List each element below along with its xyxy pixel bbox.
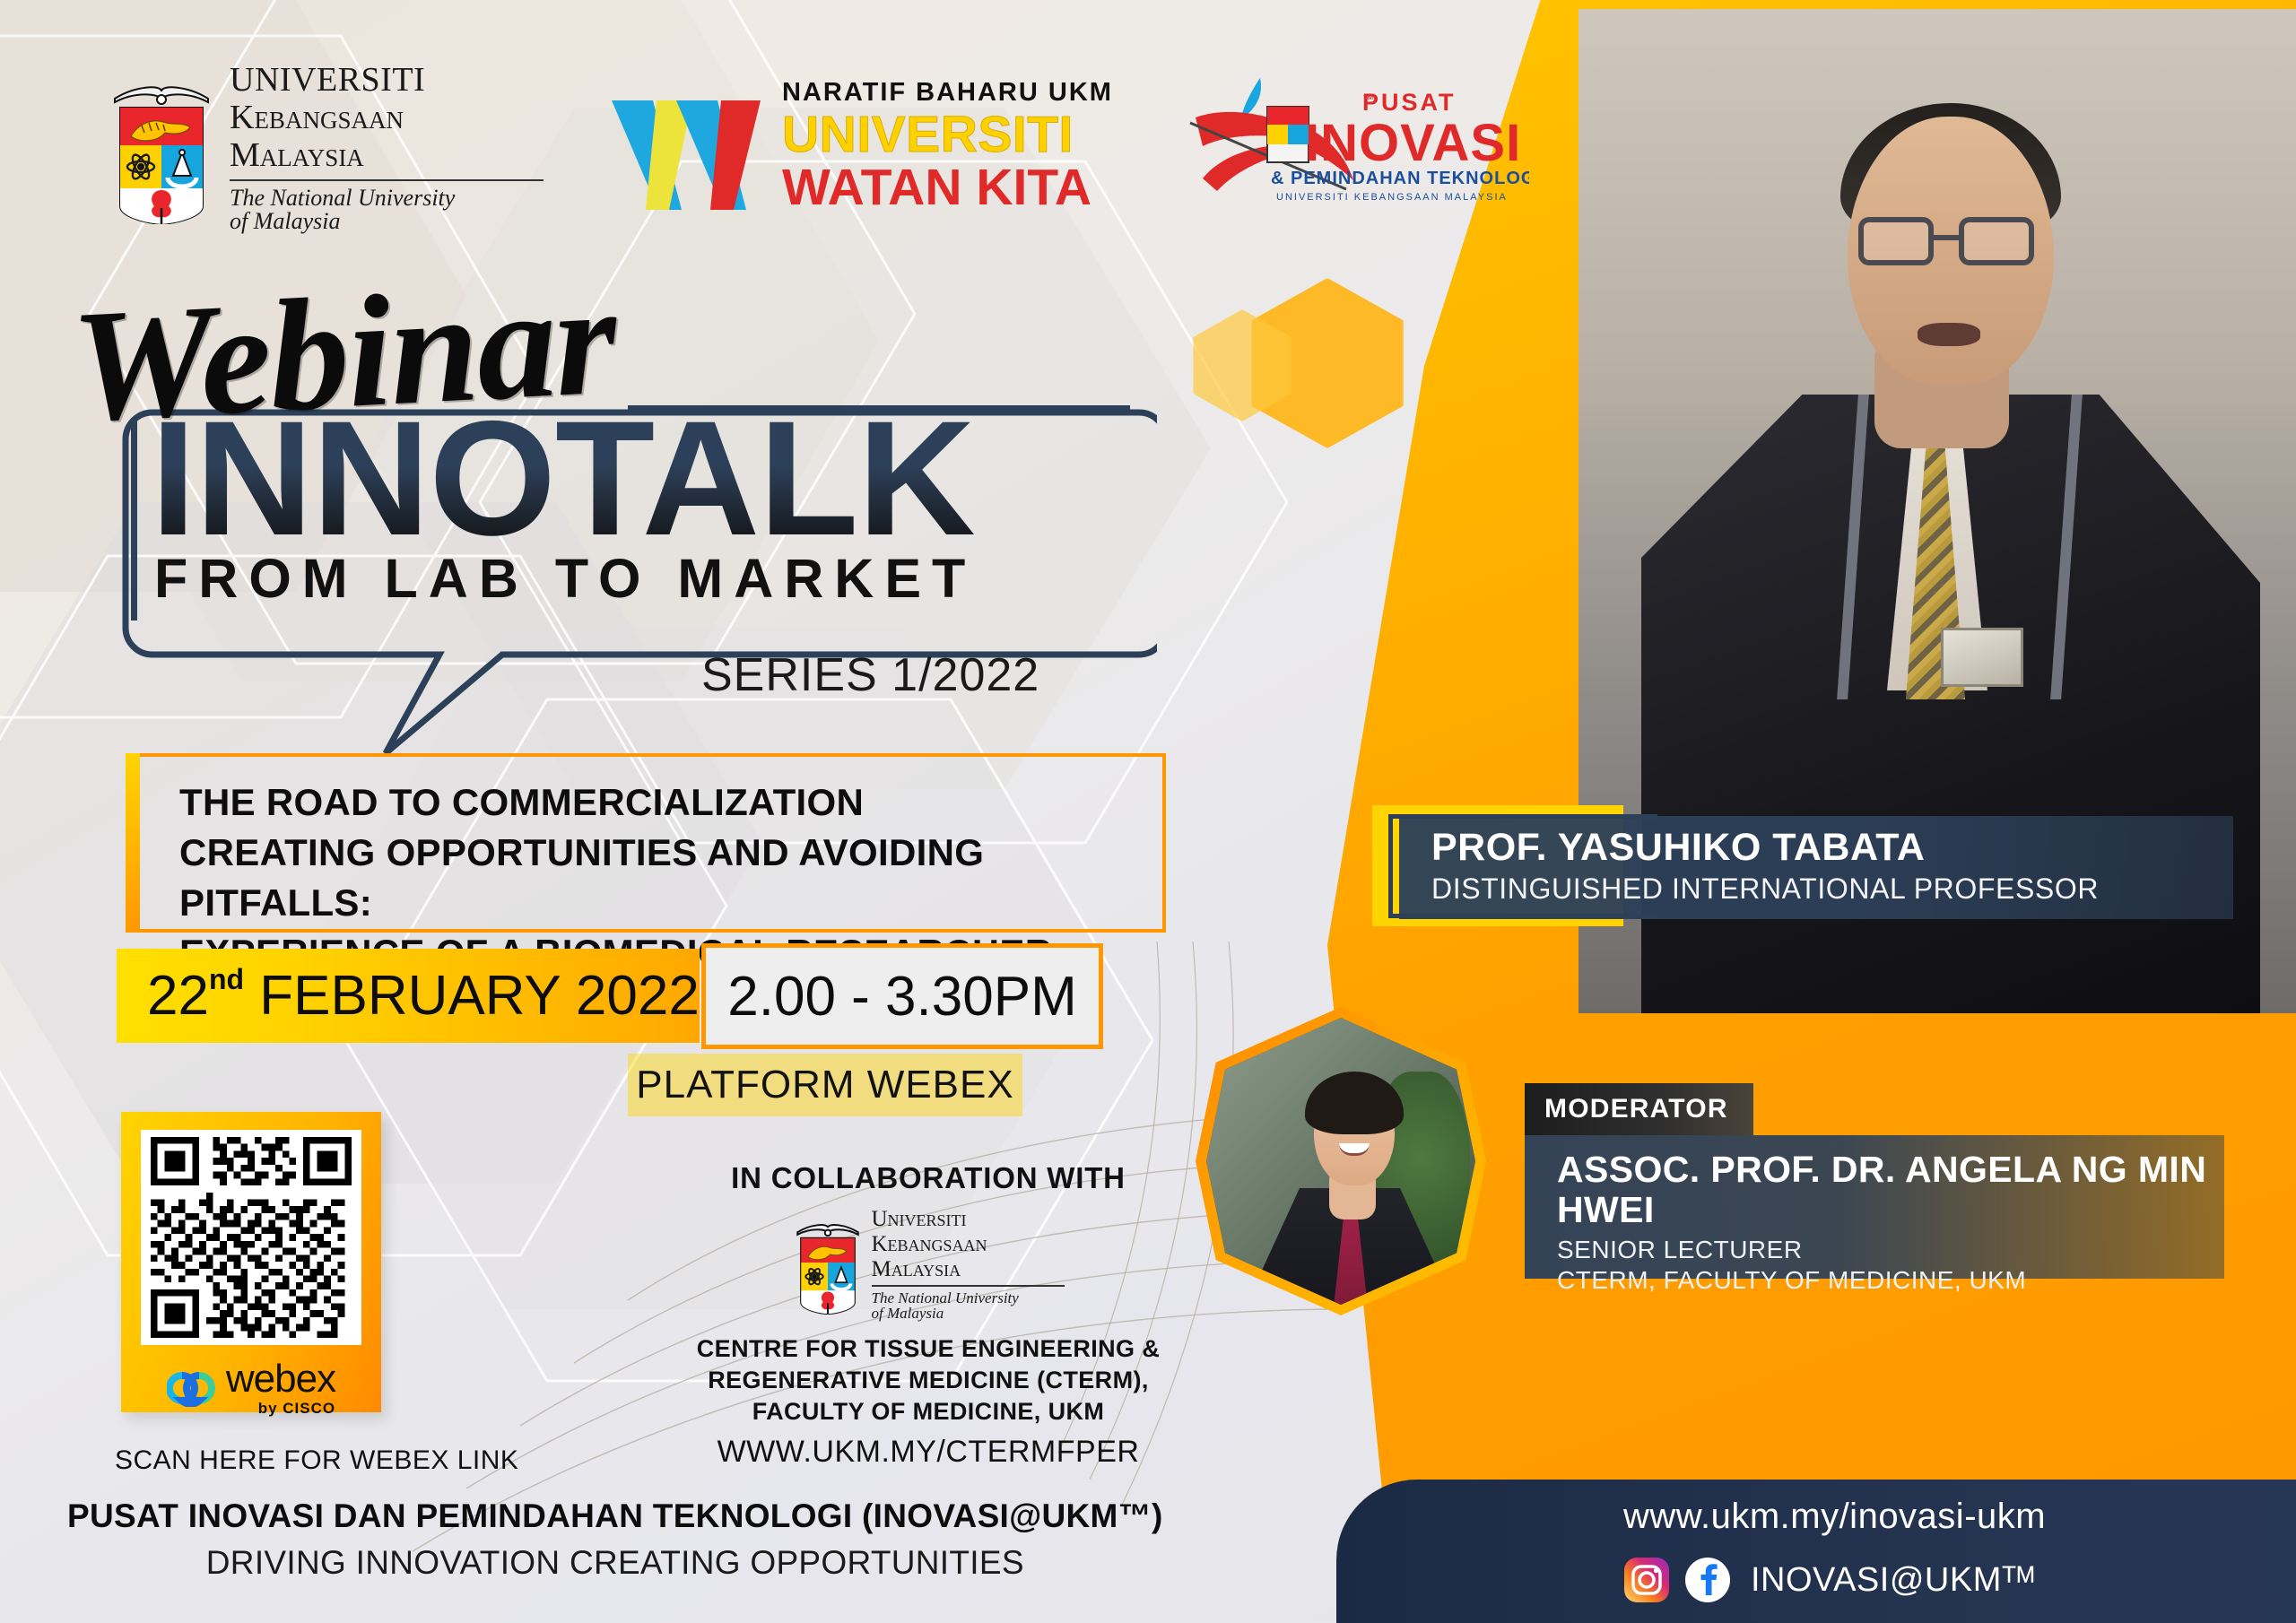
ukm-logo-line3: Malaysia [230, 138, 544, 172]
logo-divider [230, 179, 544, 181]
time-badge: 2.00 - 3.30PM [701, 943, 1103, 1049]
time-value: 2.00 - 3.30PM [727, 965, 1076, 1028]
collab-website[interactable]: WWW.UKM.MY/CTERMFPER [691, 1435, 1166, 1470]
collab-logo-line1: Universiti [872, 1208, 1065, 1230]
ukm-logo-line2: Kebangsaan [230, 100, 544, 135]
speaker-title: DISTINGUISHED INTERNATIONAL PROFESSOR [1431, 872, 2233, 906]
naratif-top-text: NARATIF BAHARU UKM [782, 78, 1113, 108]
hero-script-word: Webinar [67, 246, 620, 458]
naratif-word1: UNIVERSITI [782, 109, 1113, 161]
collaboration-block: IN COLLABORATION WITH [691, 1161, 1166, 1470]
collab-logo-line2: Kebangsaan [872, 1233, 1065, 1255]
webex-brand: webex by CISCO [141, 1359, 361, 1416]
moderator-photo [1206, 1018, 1475, 1305]
ukm-crest-icon [108, 72, 215, 224]
session-box-left-bar [126, 753, 140, 933]
moderator-name-plate: ASSOC. PROF. DR. ANGELA NG MIN HWEI SENI… [1525, 1135, 2224, 1279]
qr-caption: SCAN HERE FOR WEBEX LINK [115, 1445, 518, 1476]
speaker-name-plate: PROF. YASUHIKO TABATA DISTINGUISHED INTE… [1399, 816, 2233, 919]
inovasi-ukm-logo: PUSAT ™ INOVASI & PEMINDAHAN TEKNOLOGI U… [1170, 74, 1529, 222]
ukm-logo-tagline1: The National University [230, 187, 544, 210]
footer-social: INOVASI@UKMᵀᴹ [1623, 1557, 2035, 1603]
inovasi-mark-icon: PUSAT ™ INOVASI & PEMINDAHAN TEKNOLOGI U… [1170, 74, 1529, 222]
ukm-crest-logo: Universiti Kebangsaan Malaysia The Natio… [108, 63, 544, 233]
collaboration-heading: IN COLLABORATION WITH [691, 1161, 1166, 1195]
moderator-badge-label: MODERATOR [1544, 1094, 1728, 1124]
moderator-affiliation: CTERM, FACULTY OF MEDICINE, UKM [1557, 1266, 2224, 1295]
facebook-icon[interactable] [1684, 1557, 1731, 1603]
poster-canvas: Universiti Kebangsaan Malaysia The Natio… [0, 0, 2296, 1623]
date-suffix: nd [209, 963, 244, 996]
moderator-badge: MODERATOR [1525, 1083, 1753, 1135]
qr-code-image[interactable] [141, 1130, 361, 1345]
platform-badge: PLATFORM WEBEX [628, 1054, 1022, 1116]
svg-text:INOVASI: INOVASI [1305, 114, 1521, 172]
date-badge: 22 nd FEBRUARY 2022 [117, 949, 700, 1043]
collab-logo-line3: Malaysia [872, 1258, 1065, 1280]
session-title-box: THE ROAD TO COMMERCIALIZATION CREATING O… [126, 758, 1166, 928]
hero-subtitle: FROM LAB TO MARKET [154, 547, 976, 610]
moderator-role: SENIOR LECTURER [1557, 1236, 2224, 1264]
double-w-icon [606, 84, 777, 219]
svg-text:PUSAT: PUSAT [1362, 89, 1457, 116]
collab-logo-tagline1: The National University [872, 1290, 1065, 1306]
svg-text:UNIVERSITI KEBANGSAAN MALAYSIA: UNIVERSITI KEBANGSAAN MALAYSIA [1276, 192, 1508, 203]
ukm-logo-line1: Universiti [230, 63, 544, 97]
session-title-line-1: THE ROAD TO COMMERCIALIZATION [179, 777, 1166, 828]
webex-wordmark: webex [226, 1359, 335, 1399]
date-number: 22 [147, 964, 209, 1028]
hero-series: SERIES 1/2022 [701, 648, 1039, 702]
ukm-logo-tagline2: of Malaysia [230, 210, 544, 233]
collab-org-line2: REGENERATIVE MEDICINE (CTERM), [691, 1367, 1166, 1394]
speaker-name: PROF. YASUHIKO TABATA [1431, 827, 2233, 869]
footer-org: PUSAT INOVASI DAN PEMINDAHAN TEKNOLOGI (… [67, 1497, 1163, 1535]
moderator-name: ASSOC. PROF. DR. ANGELA NG MIN HWEI [1557, 1150, 2224, 1230]
naratif-word2: WATAN KITA [782, 162, 1113, 213]
ukm-crest-icon-small [793, 1214, 863, 1315]
instagram-icon[interactable] [1623, 1557, 1670, 1603]
collab-logo-divider [872, 1285, 1065, 1287]
naratif-baharu-ukm-logo: NARATIF BAHARU UKM UNIVERSITI WATAN KITA [606, 78, 1113, 219]
svg-text:™: ™ [1362, 92, 1374, 106]
footer-tagline: DRIVING INNOVATION CREATING OPPORTUNITIE… [67, 1544, 1163, 1582]
webex-logo-icon [167, 1369, 215, 1407]
logo-row: Universiti Kebangsaan Malaysia The Natio… [108, 63, 1529, 233]
ukm-crest-logo-small: Universiti Kebangsaan Malaysia The Natio… [691, 1208, 1166, 1321]
collab-org-line1: CENTRE FOR TISSUE ENGINEERING & [691, 1335, 1166, 1363]
collab-logo-tagline2: of Malaysia [872, 1306, 1065, 1321]
qr-modules [148, 1137, 354, 1338]
platform-label: PLATFORM WEBEX [636, 1063, 1013, 1107]
collab-org-line3: FACULTY OF MEDICINE, UKM [691, 1398, 1166, 1426]
svg-text:& PEMINDAHAN TEKNOLOGI: & PEMINDAHAN TEKNOLOGI [1271, 169, 1529, 188]
footer-org-block: PUSAT INOVASI DAN PEMINDAHAN TEKNOLOGI (… [67, 1497, 1163, 1582]
date-rest: FEBRUARY 2022 [244, 964, 700, 1028]
qr-card[interactable]: webex by CISCO [121, 1112, 381, 1412]
footer-website[interactable]: www.ukm.my/inovasi-ukm [1623, 1497, 2046, 1537]
webex-sub: by CISCO [226, 1401, 335, 1416]
footer-social-handle: INOVASI@UKMᵀᴹ [1751, 1561, 2035, 1600]
session-title-line-2: CREATING OPPORTUNITIES AND AVOIDING PITF… [179, 828, 1166, 928]
